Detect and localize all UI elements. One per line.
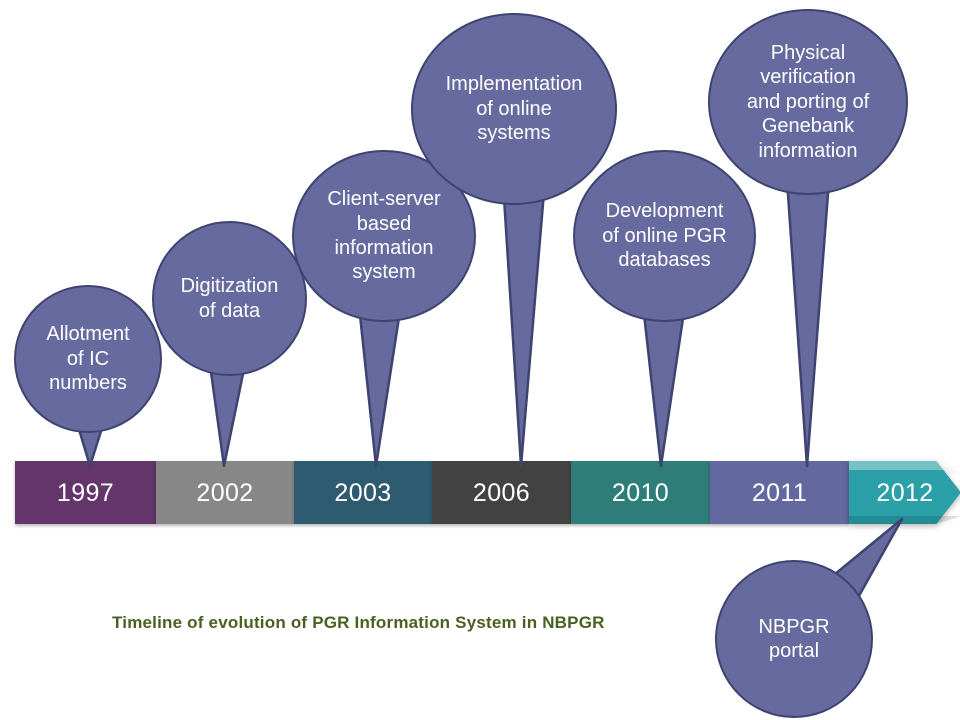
figure-caption: Timeline of evolution of PGR Information… [112,613,605,633]
event-bubble-online-systems[interactable]: Implementation of online systems [411,13,617,205]
bubble-line: of IC [46,347,129,371]
bubble-line: Digitization [181,274,279,298]
bubble-line: of online [446,97,583,121]
timeline-segment-label: 2010 [612,479,669,508]
bubble-line: system [327,260,440,284]
bubble-line: information [327,236,440,260]
timeline-segment-1997[interactable]: 1997 [15,461,156,524]
event-bubble-digitization-of-data[interactable]: Digitization of data [152,221,307,376]
timeline-segment-label: 2002 [196,479,253,508]
timeline-segment-label: 2006 [473,479,530,508]
event-bubble-text: Allotment of IC numbers [36,322,139,395]
bubble-line: of data [181,299,279,323]
event-bubble-genebank-verification[interactable]: Physical verification and porting of Gen… [708,9,908,195]
event-bubble-online-pgr-databases[interactable]: Development of online PGR databases [573,150,756,322]
bubble-line: based [327,212,440,236]
event-bubble-text: Client-server based information system [317,187,450,285]
bubble-line: of online PGR [602,224,727,248]
bubble-line: Implementation [446,72,583,96]
bubble-line: verification [747,65,869,89]
timeline-figure: Allotment of IC numbers Digitization of … [0,0,960,720]
bubble-line: NBPGR [758,615,829,639]
event-bubble-text: NBPGR portal [748,615,839,664]
bubble-line: numbers [46,371,129,395]
bubble-line: portal [758,639,829,663]
bubble-line: Genebank [747,114,869,138]
timeline-segment-2006[interactable]: 2006 [432,461,571,524]
bubble-line: Allotment [46,322,129,346]
timeline-segment-label: 2003 [334,479,391,508]
bubble-line: information [747,139,869,163]
bubble-tail-2006 [496,160,552,470]
bubble-tail-2011 [780,160,836,470]
event-bubble-text: Implementation of online systems [436,72,593,145]
bubble-line: systems [446,121,583,145]
timeline-segment-label: 1997 [57,479,114,508]
event-bubble-text: Digitization of data [171,274,289,323]
bubble-line: and porting of [747,90,869,114]
event-bubble-nbpgr-portal[interactable]: NBPGR portal [715,560,873,718]
timeline-segment-label: 2012 [876,479,933,508]
bubble-line: Client-server [327,187,440,211]
bubble-line: Development [602,199,727,223]
event-bubble-text: Development of online PGR databases [592,199,737,272]
timeline-segment-label: 2011 [752,479,807,508]
timeline-segment-2003[interactable]: 2003 [294,461,432,524]
timeline-segment-2010[interactable]: 2010 [571,461,710,524]
timeline-segment-2002[interactable]: 2002 [156,461,294,524]
event-bubble-allotment-ic-numbers[interactable]: Allotment of IC numbers [14,285,162,433]
bubble-line: Physical [747,41,869,65]
bubble-line: databases [602,248,727,272]
event-bubble-text: Physical verification and porting of Gen… [737,41,879,163]
